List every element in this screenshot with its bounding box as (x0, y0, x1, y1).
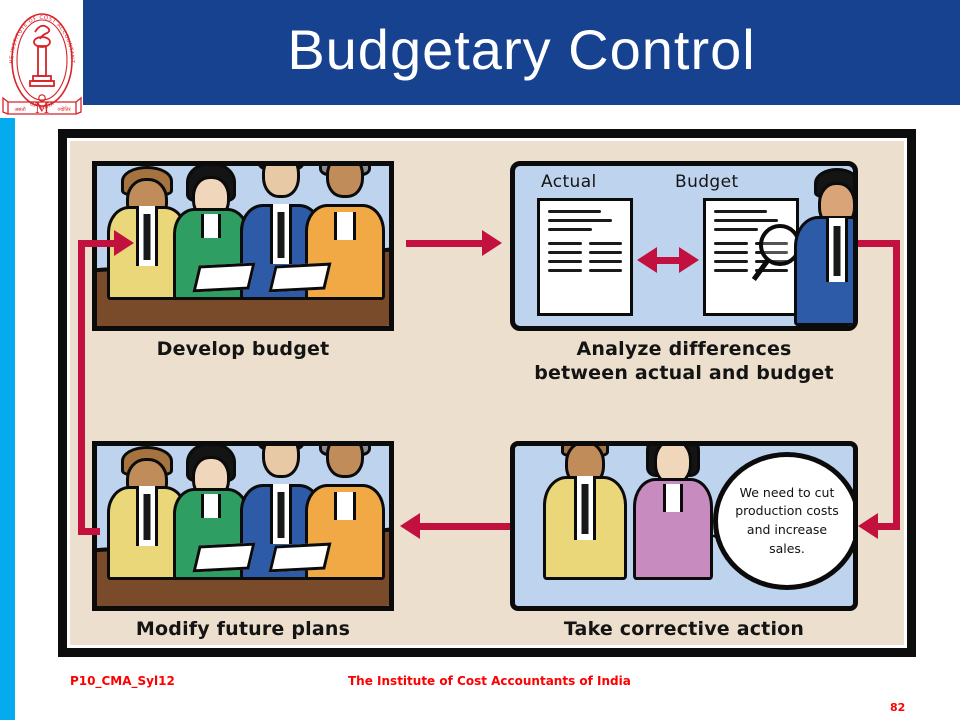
compare-double-arrow (641, 250, 695, 270)
arrowhead-into-develop-budget (114, 230, 134, 256)
caption-modify-future-plans: Modify future plans (92, 619, 394, 641)
accent-stripe (0, 118, 15, 720)
caption-take-corrective-action: Take corrective action (510, 619, 858, 641)
collar (334, 212, 356, 240)
panel-analyze-differences[interactable]: Actual Budget (510, 161, 858, 331)
head (262, 161, 300, 198)
speech-bubble: We need to cut production costs and incr… (713, 452, 858, 590)
seal-monogram: M (35, 101, 49, 117)
caption-analyze-differences-line1: Analyze differences (510, 339, 858, 361)
arrowhead-into-corrective-action (858, 513, 878, 539)
collar (201, 214, 221, 238)
svg-text:ज्योतिर: ज्योतिर (57, 106, 71, 113)
diagram-inner-border: Develop budget Actual Budget (67, 138, 907, 648)
head (326, 441, 364, 478)
footer-institute-name: The Institute of Cost Accountants of Ind… (348, 674, 631, 688)
person-woman (633, 441, 713, 580)
tie (277, 212, 284, 258)
collar (201, 494, 221, 518)
paper-document (193, 543, 256, 573)
paper-document (269, 263, 332, 293)
document-actual (537, 198, 633, 316)
page-title: Budgetary Control (83, 0, 960, 105)
diagram-frame: Develop budget Actual Budget (58, 129, 916, 657)
head (326, 161, 364, 198)
footer-course-code: P10_CMA_Syl12 (70, 674, 175, 688)
collar (663, 484, 683, 512)
tie (833, 226, 840, 276)
panel-take-corrective-action[interactable]: We need to cut production costs and incr… (510, 441, 858, 611)
label-actual: Actual (541, 172, 597, 192)
panel-modify-future-plans[interactable] (92, 441, 394, 611)
tie (582, 484, 589, 534)
paper-document (269, 543, 332, 573)
person-man (545, 441, 625, 580)
paper-document (193, 263, 256, 293)
footer-page-number: 82 (890, 701, 905, 714)
institute-seal-logo: THE INSTITUTE OF COST ACCOUNTANTS OF IND… (2, 2, 82, 120)
speech-bubble-text: We need to cut production costs and incr… (732, 484, 842, 559)
caption-analyze-differences-line2: between actual and budget (510, 363, 858, 385)
label-budget: Budget (675, 172, 739, 192)
slide-footer: P10_CMA_Syl12 The Institute of Cost Acco… (0, 666, 960, 720)
panel-develop-budget[interactable] (92, 161, 394, 331)
collar (334, 492, 356, 520)
head (262, 441, 300, 478)
title-band: Budgetary Control (83, 0, 960, 105)
arrowhead-into-analyze (482, 230, 502, 256)
arrowhead-into-modify-plans (400, 513, 420, 539)
svg-text:असतो: असतो (14, 106, 26, 113)
presenter (793, 166, 858, 326)
budgetary-control-cycle: Develop budget Actual Budget (70, 141, 904, 645)
tie (143, 494, 150, 540)
seal-icon: THE INSTITUTE OF COST ACCOUNTANTS OF IND… (2, 2, 82, 120)
tie (143, 214, 150, 260)
tie (277, 492, 284, 538)
caption-develop-budget: Develop budget (92, 339, 394, 361)
